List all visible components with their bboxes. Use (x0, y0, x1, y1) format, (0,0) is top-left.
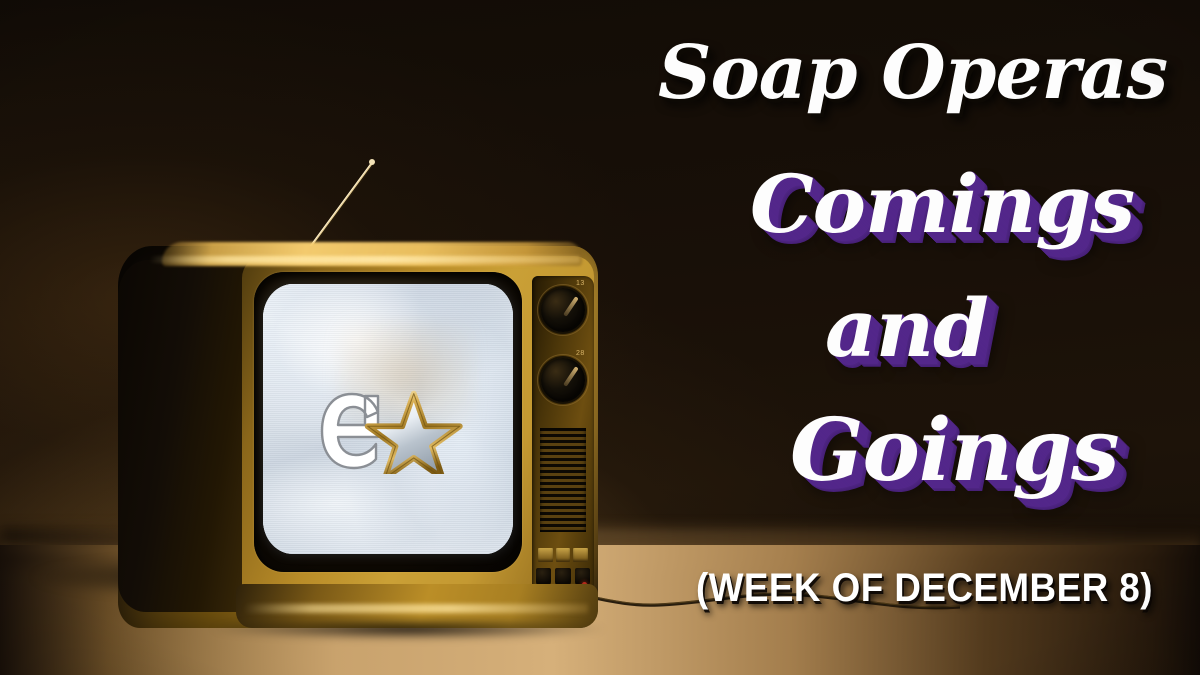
tv-button[interactable] (573, 548, 588, 562)
tv-screen (263, 284, 513, 554)
promo-graphic: 13 28 Soap Operas Comings and G (0, 0, 1200, 675)
channel-knob-bottom-label: 28 (576, 350, 585, 357)
logo-star (368, 394, 460, 474)
vintage-television: 13 28 (118, 232, 618, 642)
channel-knob-top-label: 13 (576, 280, 585, 287)
tv-button-row (538, 548, 588, 564)
channel-knob-top[interactable] (541, 288, 585, 332)
tv-base-shadow (208, 618, 608, 640)
channel-knob-bottom[interactable] (541, 358, 585, 402)
tv-left-sidewall (118, 260, 250, 612)
e-star-logo (316, 388, 466, 474)
tv-button[interactable] (538, 548, 553, 562)
tv-top-highlight-line (150, 256, 580, 263)
tv-control-panel: 13 28 (532, 276, 594, 598)
tv-bottom-highlight (244, 604, 588, 613)
tv-button[interactable] (556, 548, 571, 562)
speaker-grille (540, 428, 586, 532)
